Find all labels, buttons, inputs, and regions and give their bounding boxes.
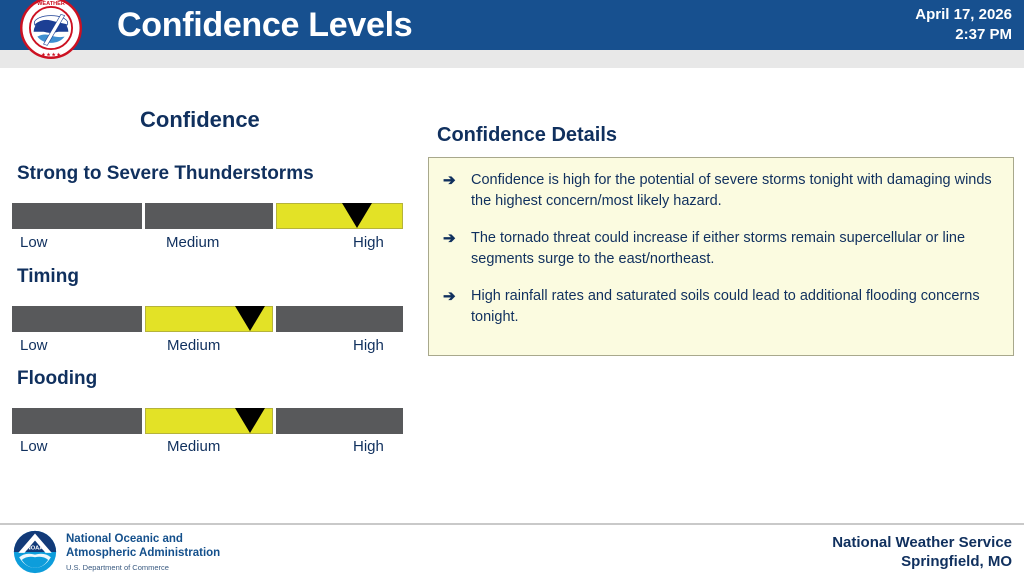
arrow-right-icon: ➔ — [443, 228, 471, 270]
noaa-seal-icon: NOAA — [12, 530, 58, 574]
bar-segment-high — [276, 306, 403, 332]
scale-labels-timing: Low Medium High — [0, 337, 420, 359]
office-location: Springfield, MO — [832, 552, 1012, 571]
bar-segment-medium — [145, 203, 273, 229]
scale-label-low: Low — [20, 337, 48, 354]
confidence-bar-timing — [12, 306, 403, 332]
header-datetime: April 17, 2026 2:37 PM — [915, 5, 1012, 45]
bar-segment-low — [12, 306, 142, 332]
page-title: Confidence Levels — [117, 4, 412, 46]
confidence-marker-timing — [235, 306, 265, 331]
svg-text:NOAA: NOAA — [27, 545, 44, 551]
scale-label-low: Low — [20, 438, 48, 455]
scale-label-medium: Medium — [167, 337, 220, 354]
header-date: April 17, 2026 — [915, 5, 1012, 25]
details-box: ➔ Confidence is high for the potential o… — [428, 157, 1014, 356]
category-title-timing: Timing — [17, 266, 79, 288]
nws-seal-icon: WEATHER ★ ★ ★ ★ — [7, 0, 95, 59]
detail-bullet-text: Confidence is high for the potential of … — [471, 170, 1003, 212]
detail-bullet-1: ➔ Confidence is high for the potential o… — [443, 170, 1003, 212]
office-name: National Weather Service — [832, 533, 1012, 552]
category-title-flooding: Flooding — [17, 368, 97, 390]
noaa-line-3: U.S. Department of Commerce — [66, 562, 220, 574]
scale-label-high: High — [353, 438, 384, 455]
footer-divider — [0, 523, 1024, 525]
header-time: 2:37 PM — [915, 25, 1012, 45]
confidence-bar-flooding — [12, 408, 403, 434]
detail-bullet-3: ➔ High rainfall rates and saturated soil… — [443, 286, 1003, 328]
confidence-marker-thunderstorms — [342, 203, 372, 228]
header-accent-strip — [0, 50, 1024, 68]
scale-label-high: High — [353, 337, 384, 354]
detail-bullet-text: High rainfall rates and saturated soils … — [471, 286, 1003, 328]
bar-segment-low — [12, 408, 142, 434]
detail-bullet-2: ➔ The tornado threat could increase if e… — [443, 228, 1003, 270]
noaa-wordmark: National Oceanic and Atmospheric Adminis… — [66, 533, 220, 574]
scale-label-medium: Medium — [166, 234, 219, 251]
confidence-heading: Confidence — [140, 107, 260, 133]
details-heading: Confidence Details — [437, 124, 617, 147]
scale-label-low: Low — [20, 234, 48, 251]
svg-text:WEATHER: WEATHER — [37, 1, 65, 7]
arrow-right-icon: ➔ — [443, 170, 471, 212]
svg-text:★ ★ ★ ★: ★ ★ ★ ★ — [40, 52, 60, 57]
noaa-line-2: Atmospheric Administration — [66, 547, 220, 561]
confidence-bar-thunderstorms — [12, 203, 403, 229]
bar-segment-high — [276, 408, 403, 434]
bar-segment-low — [12, 203, 142, 229]
scale-label-medium: Medium — [167, 438, 220, 455]
category-title-thunderstorms: Strong to Severe Thunderstorms — [17, 163, 314, 185]
noaa-line-1: National Oceanic and — [66, 533, 220, 547]
scale-label-high: High — [353, 234, 384, 251]
arrow-right-icon: ➔ — [443, 286, 471, 328]
confidence-marker-flooding — [235, 408, 265, 433]
office-identification: National Weather Service Springfield, MO — [832, 533, 1012, 571]
scale-labels-flooding: Low Medium High — [0, 438, 420, 460]
bar-segment-high — [276, 203, 403, 229]
scale-labels-thunderstorms: Low Medium High — [0, 234, 420, 256]
detail-bullet-text: The tornado threat could increase if eit… — [471, 228, 1003, 270]
